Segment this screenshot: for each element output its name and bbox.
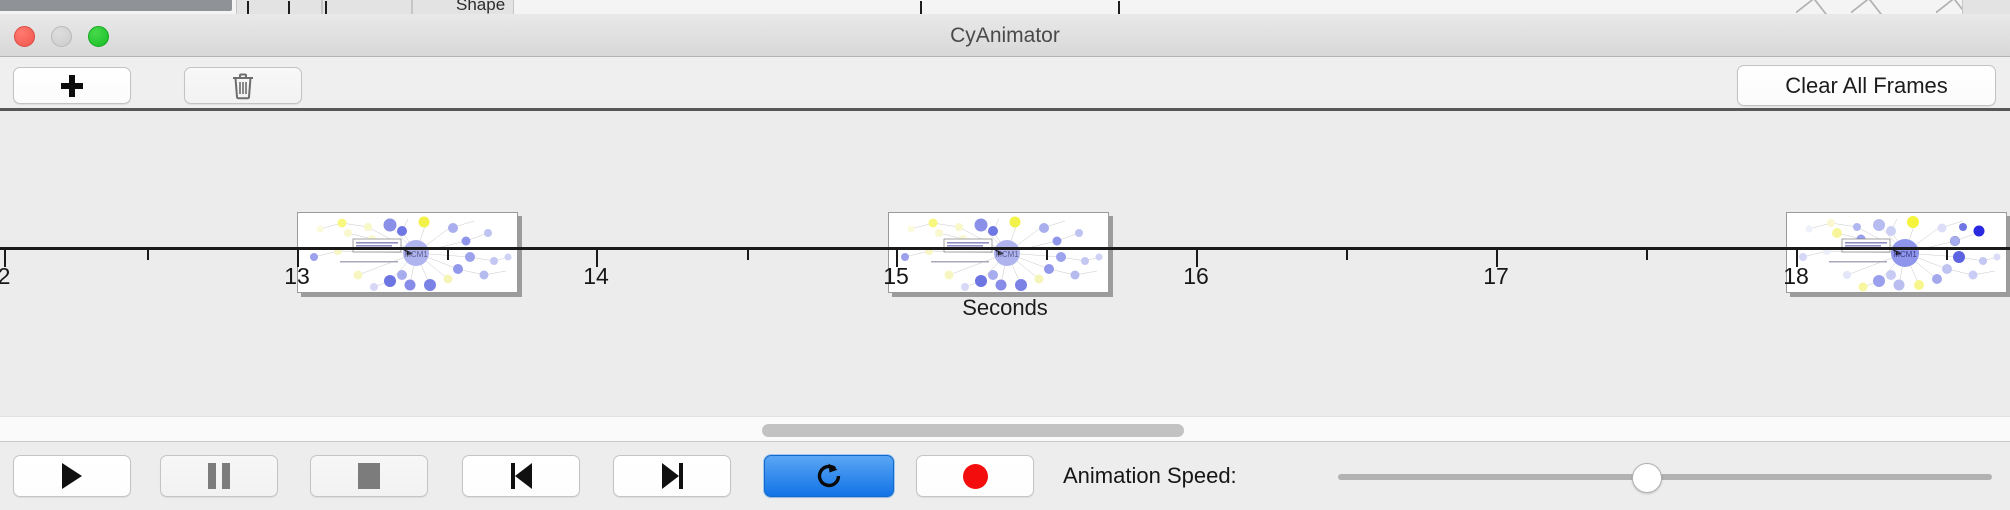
timeline-scrollbar[interactable] (0, 416, 2010, 442)
trash-icon (230, 72, 256, 100)
background-arc (1795, 0, 1829, 15)
scrollbar-thumb[interactable] (762, 424, 1184, 437)
previous-frame-button[interactable] (462, 455, 580, 497)
background-tick-mark (247, 1, 249, 14)
background-tick-mark (288, 1, 290, 14)
background-window-strip: Shape (0, 0, 2010, 15)
frame-thumbnail[interactable]: MCM1 (1786, 212, 2007, 293)
add-frame-button[interactable] (13, 67, 131, 104)
background-tick-mark (920, 1, 922, 14)
pause-icon (208, 463, 230, 489)
stop-button[interactable] (310, 455, 428, 497)
axis-tick-minor (747, 250, 749, 260)
skip-previous-icon (511, 463, 532, 489)
axis-tick-label: 13 (284, 263, 310, 290)
loop-button[interactable] (764, 455, 894, 497)
background-tick-mark (1118, 1, 1120, 14)
background-shape-label: Shape (456, 0, 505, 15)
frame-thumbnail[interactable]: MCM1 (888, 212, 1109, 293)
axis-title: Seconds (0, 295, 2010, 321)
window-title: CyAnimator (0, 14, 2010, 57)
play-button[interactable] (13, 455, 131, 497)
timeline-panel[interactable]: MCM1 (0, 111, 2010, 416)
network-preview: MCM1 (889, 213, 1108, 292)
clear-all-frames-button[interactable]: Clear All Frames (1737, 65, 1996, 106)
next-frame-button[interactable] (613, 455, 731, 497)
animation-speed-slider-thumb[interactable] (1632, 463, 1662, 493)
animation-speed-slider[interactable] (1338, 474, 1992, 480)
record-icon (963, 464, 988, 489)
delete-frame-button[interactable] (184, 67, 302, 104)
plus-icon (61, 75, 83, 97)
axis-tick-minor (1646, 250, 1648, 260)
axis-tick-label: 17 (1483, 263, 1509, 290)
maximize-button[interactable] (88, 26, 109, 47)
network-preview: MCM1 (298, 213, 517, 292)
background-tab (322, 0, 412, 14)
loop-icon (814, 461, 844, 491)
network-preview: MCM1 (1787, 213, 2006, 292)
playback-controls: Animation Speed: (0, 443, 2010, 510)
svg-text:MCM1: MCM1 (1893, 250, 1917, 259)
minimize-button[interactable] (51, 26, 72, 47)
title-bar: CyAnimator (0, 14, 2010, 57)
close-button[interactable] (14, 26, 35, 47)
axis-tick-label: 18 (1783, 263, 1809, 290)
axis-tick-minor (1346, 250, 1348, 260)
axis-tick-minor (1046, 250, 1048, 260)
axis-tick-label: 14 (583, 263, 609, 290)
background-tick-mark (325, 1, 327, 14)
clear-all-frames-label: Clear All Frames (1785, 73, 1948, 99)
axis-tick-label: 2 (0, 263, 10, 290)
axis-tick-label: 16 (1183, 263, 1209, 290)
svg-text:MCM1: MCM1 (404, 250, 428, 259)
stop-icon (358, 463, 380, 489)
cyanimator-window: Shape CyAnimator Clear All Frames (0, 0, 2010, 510)
axis-tick-minor (147, 250, 149, 260)
axis-tick-minor (1946, 250, 1948, 260)
record-button[interactable] (916, 455, 1034, 497)
animation-speed-label: Animation Speed: (1063, 463, 1237, 489)
frame-thumbnail[interactable]: MCM1 (297, 212, 518, 293)
skip-next-icon (662, 463, 683, 489)
play-icon (62, 463, 82, 489)
background-arc (1850, 0, 1884, 15)
svg-text:MCM1: MCM1 (995, 250, 1019, 259)
pause-button[interactable] (160, 455, 278, 497)
axis-tick-minor (447, 250, 449, 260)
axis-tick-label: 15 (883, 263, 909, 290)
background-tab (1962, 0, 2010, 14)
toolbar: Clear All Frames (0, 57, 2010, 111)
background-dark-bar (0, 0, 232, 11)
timeline-axis-line (0, 247, 2010, 250)
